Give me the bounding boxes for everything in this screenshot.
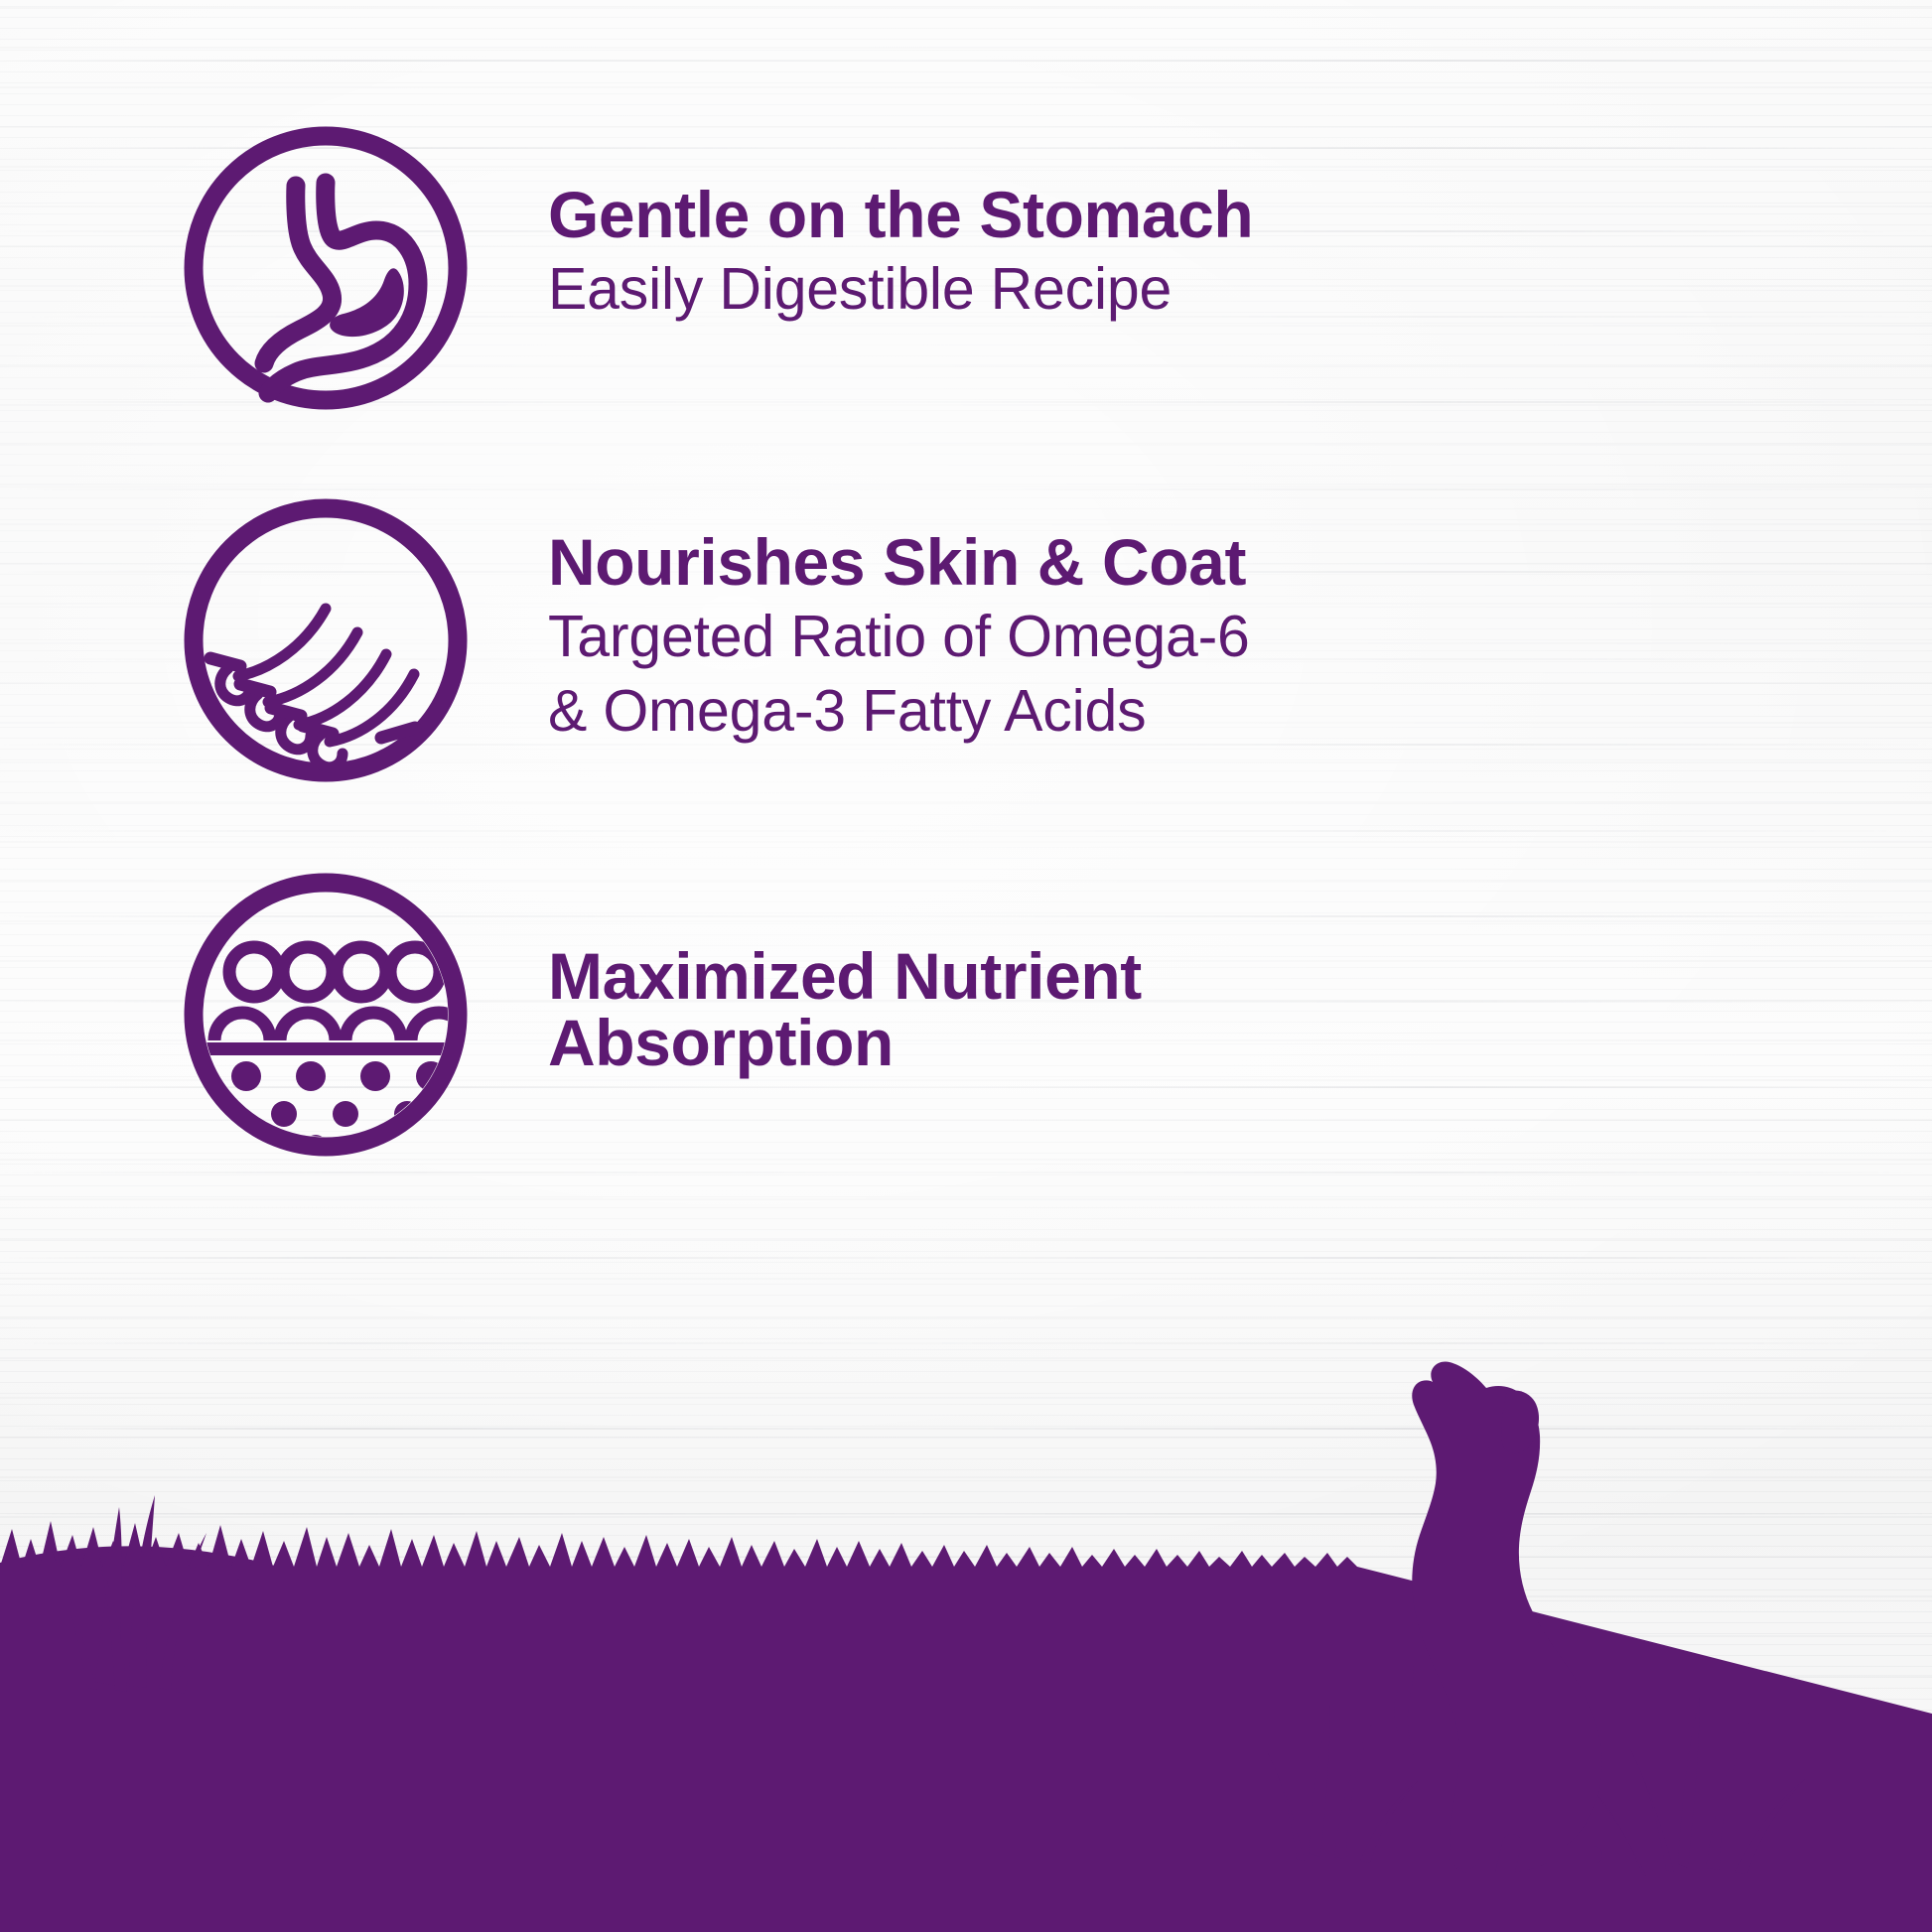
feature-row-nourishes-skin-and-coat: Nourishes Skin & Coat Targeted Ratio of … (177, 491, 1250, 789)
hair-follicle-icon (177, 491, 475, 789)
feature-text-block: Nourishes Skin & Coat Targeted Ratio of … (548, 491, 1250, 745)
stomach-icon (177, 119, 475, 417)
feature-row-gentle-on-the-stomach: Gentle on the Stomach Easily Digestible … (177, 119, 1253, 417)
feature-title: Nourishes Skin & Coat (548, 529, 1250, 596)
feature-subtitle-line: Easily Digestible Recipe (548, 256, 1253, 323)
feature-subtitle-line: & Omega-3 Fatty Acids (548, 678, 1250, 745)
grass-hill-silhouette (0, 1297, 1932, 1932)
feature-row-maximized-nutrient-absorption: Maximized Nutrient Absorption (177, 866, 1303, 1164)
feature-text-block: Gentle on the Stomach Easily Digestible … (548, 119, 1253, 323)
feature-title: Maximized Nutrient Absorption (548, 943, 1303, 1077)
feature-subtitle-line: Targeted Ratio of Omega-6 (548, 604, 1250, 670)
feature-text-block: Maximized Nutrient Absorption (548, 866, 1303, 1077)
feature-title: Gentle on the Stomach (548, 182, 1253, 248)
nutrient-absorption-icon (177, 866, 475, 1164)
